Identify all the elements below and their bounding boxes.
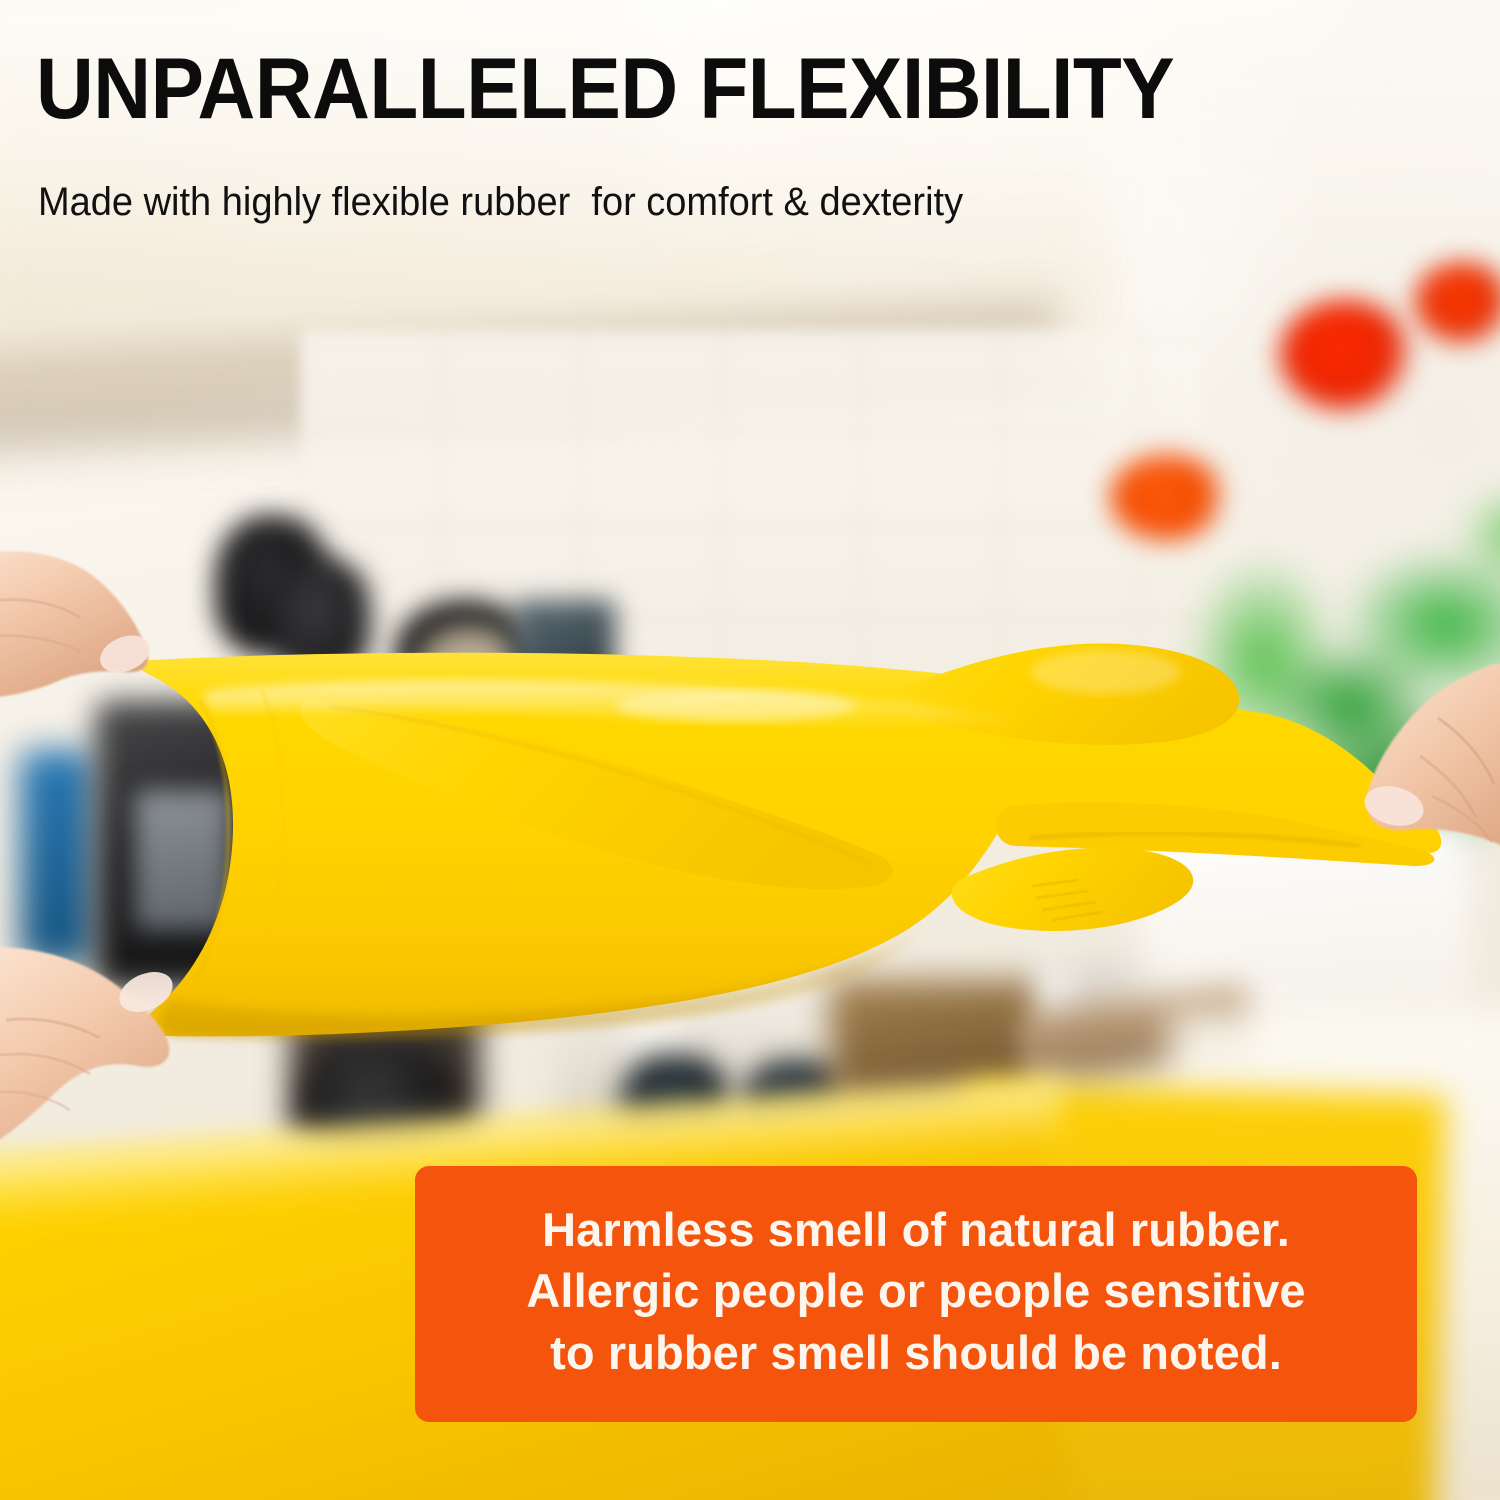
dark-kettle-body: [275, 560, 370, 680]
callout-text: Harmless smell of natural rubber. Allerg…: [526, 1199, 1305, 1382]
page-title: UNPARALLELED FLEXIBILITY: [36, 46, 1174, 132]
light-bowl: [415, 625, 525, 705]
red-flower-primary: [1280, 300, 1410, 410]
product-marketing-poster: UNPARALLELED FLEXIBILITY Made with highl…: [0, 0, 1500, 1500]
right-hand: [1334, 664, 1500, 924]
blue-container: [20, 750, 95, 965]
red-flower-tertiary: [1415, 262, 1500, 342]
appliance-panel: [135, 790, 230, 930]
orange-flower-secondary: [1110, 455, 1225, 540]
left-lower-hand: [0, 938, 268, 1228]
left-upper-hand: [0, 548, 252, 768]
picture-frame: [515, 600, 615, 690]
hand-shape: [0, 551, 148, 698]
page-subtitle: Made with highly flexible rubber for com…: [38, 182, 963, 222]
warning-callout-box: Harmless smell of natural rubber. Allerg…: [415, 1166, 1417, 1422]
